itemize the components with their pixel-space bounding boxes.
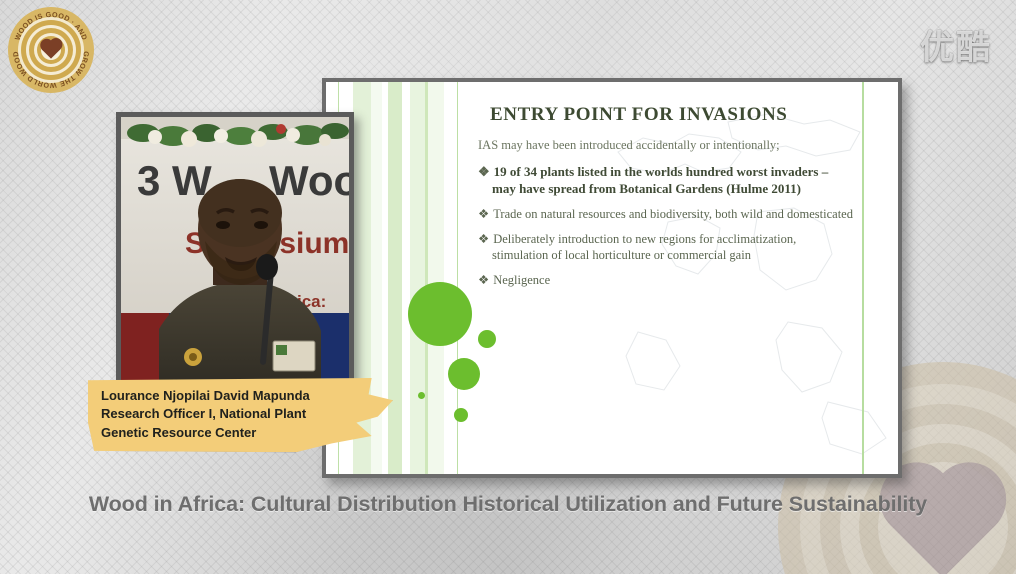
caption-line-org: Genetic Resource Center xyxy=(101,424,359,442)
slide-content: ENTRY POINT FOR INVASIONS IAS may have b… xyxy=(478,104,854,297)
logo-curved-text: WOOD IS GOOD · AND GROW THE WORLD WOOD xyxy=(8,7,94,93)
decor-bubble-micro xyxy=(418,392,425,399)
svg-text:Woo: Woo xyxy=(269,157,349,204)
slide-bullet: ❖Trade on natural resources and biodiver… xyxy=(478,206,854,222)
video-player-frame: WOOD IS GOOD · AND GROW THE WORLD WOOD 优… xyxy=(0,0,1016,574)
svg-text:WOOD IS GOOD · AND: WOOD IS GOOD · AND xyxy=(13,10,90,42)
slide-bullet: ❖Deliberately introduction to new region… xyxy=(478,231,854,263)
slide-lead-text: IAS may have been introduced accidentall… xyxy=(478,138,854,153)
bullet-text: Deliberately introduction to new regions… xyxy=(492,232,796,262)
decor-bubble-large xyxy=(408,282,472,346)
bullet-marker-icon: ❖ xyxy=(478,207,489,221)
caption-line-role: Research Officer I, National Plant xyxy=(101,405,359,423)
presentation-slide: ENTRY POINT FOR INVASIONS IAS may have b… xyxy=(322,78,902,478)
decor-bubble-tiny xyxy=(454,408,468,422)
caption-line-name: Lourance Njopilai David Mapunda xyxy=(101,387,359,405)
bullet-marker-icon: ❖ xyxy=(478,273,489,287)
slide-right-rule xyxy=(862,82,864,474)
speaker-photo: 3 W Woo S osium ica: on, xyxy=(121,117,349,397)
svg-text:GROW THE WORLD WOOD: GROW THE WORLD WOOD xyxy=(11,51,91,90)
wood-is-good-logo: WOOD IS GOOD · AND GROW THE WORLD WOOD xyxy=(8,7,94,93)
slide-bullet: ❖Negligence xyxy=(478,272,854,288)
decor-bubble-small xyxy=(478,330,496,348)
speaker-video-thumbnail[interactable]: 3 W Woo S osium ica: on, xyxy=(116,112,354,402)
decor-bubble-medium xyxy=(448,358,480,390)
bullet-text: Trade on natural resources and biodivers… xyxy=(493,207,853,221)
svg-text:3 W: 3 W xyxy=(137,157,212,204)
bullet-text: Negligence xyxy=(493,273,550,287)
slide-bullet: ❖19 of 34 plants listed in the worlds hu… xyxy=(478,164,854,197)
bullet-text: 19 of 34 plants listed in the worlds hun… xyxy=(492,164,828,196)
presentation-title: Wood in Africa: Cultural Distribution Hi… xyxy=(0,492,1016,517)
bullet-marker-icon: ❖ xyxy=(478,164,490,179)
bullet-marker-icon: ❖ xyxy=(478,232,489,246)
youku-watermark: 优酷 xyxy=(920,20,992,69)
slide-title: ENTRY POINT FOR INVASIONS xyxy=(490,104,854,126)
